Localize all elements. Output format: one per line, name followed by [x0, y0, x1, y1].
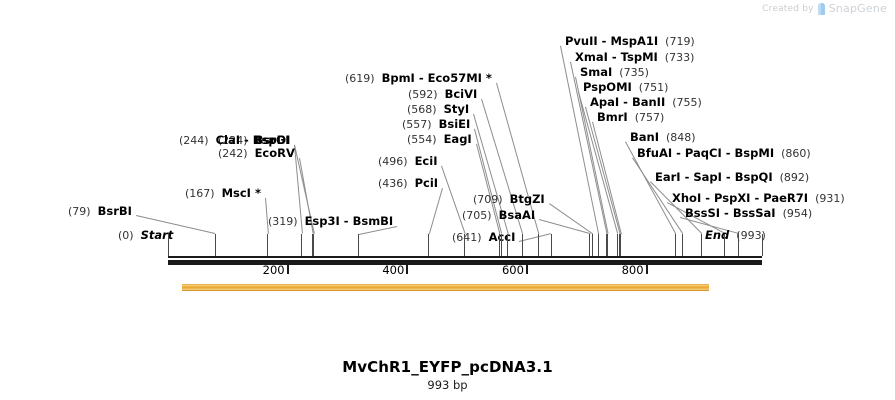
cut-site-tick — [358, 234, 359, 256]
cut-site-tick — [589, 234, 590, 256]
cut-site-tick — [464, 234, 465, 256]
site-position: (709) — [473, 193, 510, 206]
cut-site-tick — [551, 234, 552, 256]
site-separator: - — [240, 133, 253, 147]
restriction-map: (79) BsrBI(167) MscI *(224) BsrGI(242) E… — [0, 0, 895, 330]
cut-site-tick — [592, 234, 593, 256]
enzyme-name[interactable]: BmrI — [597, 110, 628, 124]
enzyme-name[interactable]: ApaI — [590, 95, 619, 109]
restriction-site-label[interactable]: (641) AccI — [452, 231, 515, 244]
cut-site-tick — [267, 234, 268, 256]
restriction-site-label[interactable]: BanI (848) — [630, 131, 696, 144]
restriction-site-label[interactable]: (79) BsrBI — [68, 205, 132, 218]
site-separator: - — [701, 191, 714, 205]
restriction-site-label[interactable]: (319) Esp3I - BsmBI — [268, 215, 393, 228]
site-position: (557) — [402, 118, 439, 131]
enzyme-name[interactable]: BspDI — [253, 133, 291, 147]
site-position: (319) — [268, 215, 305, 228]
ruler-tick-label: 400 — [382, 263, 406, 277]
enzyme-name[interactable]: BspQI — [735, 170, 773, 184]
restriction-site-label[interactable]: PspOMI (751) — [583, 81, 668, 94]
enzyme-name[interactable]: BanII — [632, 95, 665, 109]
terminal-name: End — [705, 228, 729, 242]
restriction-site-label[interactable]: PvuII - MspA1I (719) — [565, 35, 695, 48]
enzyme-name[interactable]: MspA1I — [610, 34, 658, 48]
orf-arrow[interactable] — [182, 282, 719, 293]
site-separator: - — [415, 71, 428, 85]
cut-site-tick — [301, 234, 302, 256]
enzyme-name[interactable]: BsrBI — [98, 204, 132, 218]
site-position: (931) — [808, 192, 845, 205]
restriction-site-label[interactable]: ApaI - BanII (755) — [590, 96, 702, 109]
cut-site-tick — [762, 234, 763, 256]
enzyme-name[interactable]: BsaAI — [499, 208, 536, 222]
restriction-site-label[interactable]: (436) PciI — [378, 177, 438, 190]
restriction-site-label[interactable]: BssSI - BssSaI (954) — [685, 207, 812, 220]
plasmid-name: MvChR1_EYFP_pcDNA3.1 — [0, 358, 895, 376]
site-position: (755) — [665, 96, 702, 109]
ruler-tick-label: 600 — [502, 263, 526, 277]
site-position: (757) — [628, 111, 665, 124]
site-separator: - — [619, 95, 632, 109]
cut-site-tick — [598, 234, 599, 256]
site-position: (244) — [179, 134, 216, 147]
cut-site-tick — [682, 234, 683, 256]
enzyme-name[interactable]: BssSaI — [733, 206, 776, 220]
backbone-thin-line — [168, 256, 762, 258]
restriction-site-label[interactable]: (167) MscI * — [185, 187, 261, 200]
backbone-thick-line — [168, 260, 762, 265]
ruler-tick — [287, 265, 289, 274]
enzyme-name[interactable]: PaeR7I — [763, 191, 808, 205]
restriction-site-label[interactable]: EarI - SapI - BspQI (892) — [655, 171, 809, 184]
start-label: (0) Start — [118, 229, 173, 242]
leader-line — [429, 188, 443, 234]
enzyme-name[interactable]: BspMI — [735, 146, 775, 160]
ruler-tick — [406, 265, 408, 274]
enzyme-name[interactable]: PciI — [415, 176, 438, 190]
cut-site-tick — [738, 234, 739, 256]
cut-site-tick — [620, 234, 621, 256]
enzyme-name[interactable]: StyI — [444, 102, 470, 116]
restriction-site-label[interactable]: (592) BciVI — [408, 88, 477, 101]
enzyme-name[interactable]: TspMI — [621, 50, 658, 64]
enzyme-name[interactable]: EarI — [655, 170, 681, 184]
enzyme-name[interactable]: BanI — [630, 130, 659, 144]
cut-site-tick — [168, 234, 169, 256]
enzyme-name[interactable]: SmaI — [580, 65, 612, 79]
site-position: (860) — [774, 147, 811, 160]
end-label: End (993) — [705, 229, 766, 242]
enzyme-name[interactable]: BpmI — [382, 71, 415, 85]
enzyme-name[interactable]: MscI * — [222, 186, 261, 200]
site-position: (719) — [658, 35, 695, 48]
enzyme-name[interactable]: ClaI — [216, 133, 240, 147]
site-separator: - — [672, 146, 685, 160]
enzyme-name[interactable]: EagI — [444, 132, 472, 146]
site-separator: - — [722, 170, 735, 184]
cut-site-tick — [675, 234, 676, 256]
title-block: MvChR1_EYFP_pcDNA3.1 993 bp — [0, 358, 895, 392]
plasmid-size: 993 bp — [0, 378, 895, 392]
leader-line — [441, 166, 466, 234]
restriction-site-label[interactable]: (619) BpmI - Eco57MI * — [345, 72, 492, 85]
enzyme-name[interactable]: XmaI — [575, 50, 608, 64]
site-separator: - — [681, 170, 694, 184]
restriction-site-label[interactable]: XhoI - PspXI - PaeR7I (931) — [672, 192, 845, 205]
restriction-site-label[interactable]: (242) EcoRV — [218, 147, 295, 160]
cut-site-tick — [215, 234, 216, 256]
restriction-site-label[interactable]: (705) BsaAI — [462, 209, 535, 222]
enzyme-name[interactable]: BtgZI — [510, 192, 545, 206]
site-position: (892) — [773, 171, 810, 184]
site-separator: - — [722, 146, 735, 160]
restriction-site-label[interactable]: (568) StyI — [407, 103, 469, 116]
enzyme-name[interactable]: BciVI — [445, 87, 478, 101]
site-position: (79) — [68, 205, 98, 218]
cut-site-tick — [313, 234, 314, 256]
restriction-site-label[interactable]: (557) BsiEI — [402, 118, 470, 131]
enzyme-name[interactable]: PvuII — [565, 34, 598, 48]
restriction-site-label[interactable]: (496) EciI — [378, 155, 437, 168]
site-position: (167) — [185, 187, 222, 200]
enzyme-name[interactable]: Esp3I — [305, 214, 340, 228]
cut-site-tick — [701, 234, 702, 256]
ruler-tick-label: 800 — [622, 263, 646, 277]
enzyme-name[interactable]: Eco57MI * — [428, 71, 492, 85]
site-position: (619) — [345, 72, 382, 85]
ruler-tick-label: 200 — [263, 263, 287, 277]
enzyme-name[interactable]: EcoRV — [255, 146, 295, 160]
ruler-tick — [646, 265, 648, 274]
enzyme-name[interactable]: AccI — [489, 230, 516, 244]
cut-site-tick — [507, 234, 508, 256]
enzyme-name[interactable]: XhoI — [672, 191, 701, 205]
cut-site-tick — [522, 234, 523, 256]
cut-site-tick — [428, 234, 429, 256]
site-separator: - — [608, 50, 621, 64]
restriction-site-label[interactable]: XmaI - TspMI (733) — [575, 51, 694, 64]
orf-arrow-body — [182, 284, 709, 291]
site-position: (705) — [462, 209, 499, 222]
restriction-site-label[interactable]: BmrI (757) — [597, 111, 664, 124]
enzyme-name[interactable]: BssSI — [685, 206, 720, 220]
site-position: (592) — [408, 88, 445, 101]
site-separator: - — [598, 34, 611, 48]
ruler-tick — [526, 265, 528, 274]
site-separator: - — [340, 214, 353, 228]
site-position: (733) — [658, 51, 695, 64]
site-position: (751) — [632, 81, 669, 94]
cut-site-tick — [501, 234, 502, 256]
enzyme-name[interactable]: PspOMI — [583, 80, 632, 94]
restriction-site-label[interactable]: BfuAI - PaqCI - BspMI (860) — [637, 147, 811, 160]
site-position: (568) — [407, 103, 444, 116]
restriction-site-label[interactable]: (554) EagI — [407, 133, 472, 146]
enzyme-name[interactable]: BfuAI — [637, 146, 672, 160]
site-position: (641) — [452, 231, 489, 244]
site-separator: - — [720, 206, 733, 220]
site-position: (242) — [218, 147, 255, 160]
enzyme-name[interactable]: EciI — [415, 154, 438, 168]
restriction-site-label[interactable]: (709) BtgZI — [473, 193, 545, 206]
enzyme-name[interactable]: SapI — [693, 170, 722, 184]
restriction-site-label[interactable]: SmaI (735) — [580, 66, 649, 79]
site-position: (848) — [659, 131, 696, 144]
terminal-position: (0) — [118, 229, 141, 242]
enzyme-name[interactable]: PspXI — [714, 191, 750, 205]
site-position: (554) — [407, 133, 444, 146]
site-position: (436) — [378, 177, 415, 190]
terminal-position: (993) — [729, 229, 766, 242]
cut-site-tick — [607, 234, 608, 256]
leader-line — [549, 203, 593, 234]
cut-site-tick — [538, 234, 539, 256]
site-separator: - — [750, 191, 763, 205]
site-position: (496) — [378, 155, 415, 168]
enzyme-name[interactable]: PaqCI — [685, 146, 722, 160]
site-position: (954) — [776, 207, 813, 220]
restriction-site-label[interactable]: (244) ClaI - BspDI — [179, 134, 290, 147]
cut-site-tick — [724, 234, 725, 256]
leader-line — [519, 233, 552, 242]
enzyme-name[interactable]: BsmBI — [353, 214, 394, 228]
site-position: (735) — [612, 66, 649, 79]
cut-site-tick — [617, 234, 618, 256]
enzyme-name[interactable]: BsiEI — [439, 117, 471, 131]
